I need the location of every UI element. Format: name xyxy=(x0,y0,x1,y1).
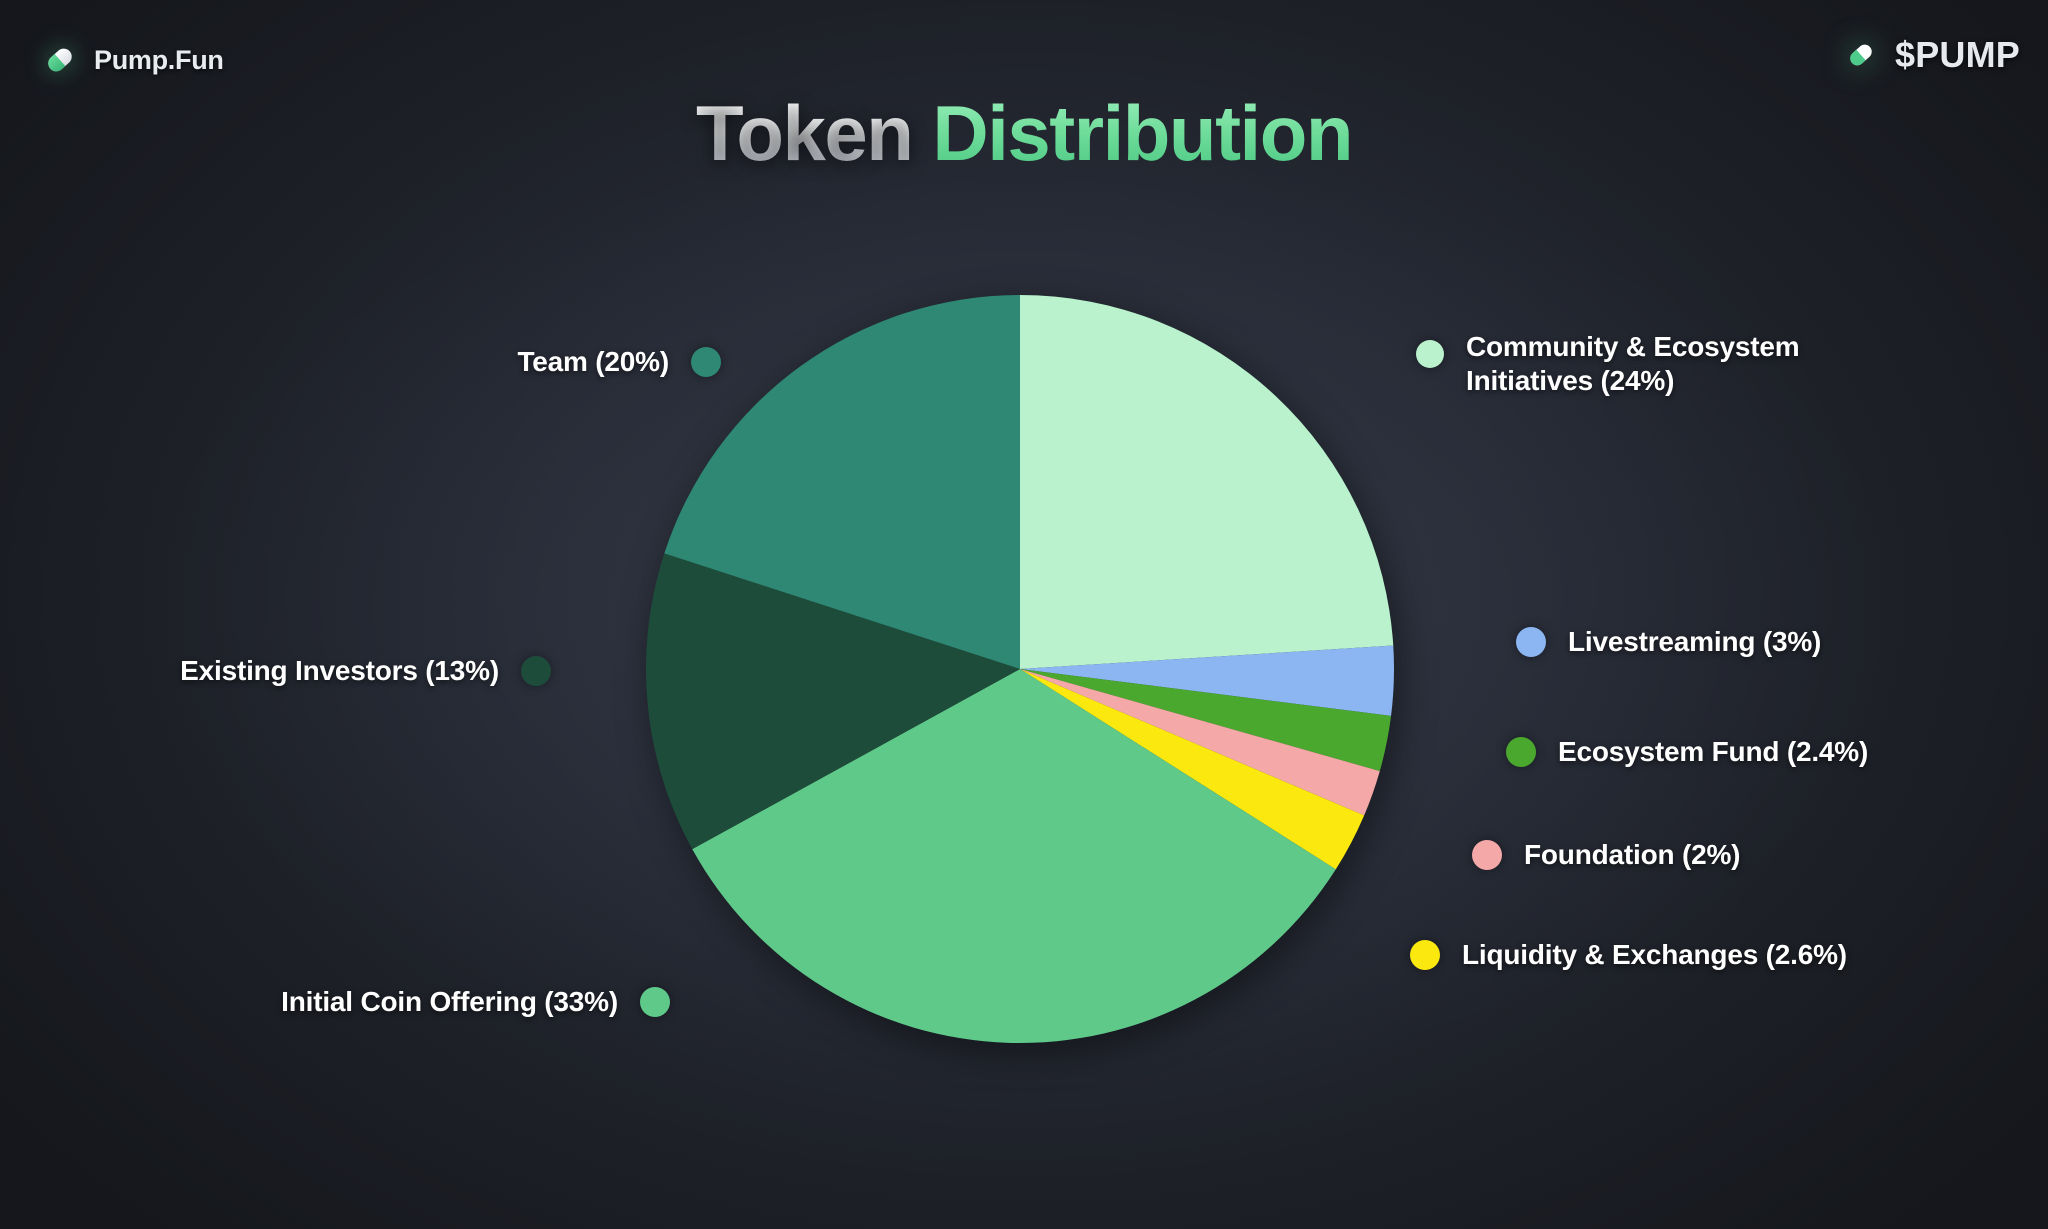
pill-capsule-icon xyxy=(1843,37,1879,73)
pie-chart xyxy=(646,295,1394,1043)
legend-item-existing-investors[interactable]: Existing Investors (13%) xyxy=(180,654,551,688)
brand-name: Pump.Fun xyxy=(94,45,224,76)
legend-label: Community & Ecosystem Initiatives (24%) xyxy=(1466,330,1799,398)
legend-swatch-icon xyxy=(691,347,721,377)
legend-item-community-ecosystem-initiatives[interactable]: Community & Ecosystem Initiatives (24%) xyxy=(1416,330,1976,398)
legend-label: Ecosystem Fund (2.4%) xyxy=(1558,735,1868,769)
legend-item-ecosystem-fund[interactable]: Ecosystem Fund (2.4%) xyxy=(1506,735,1868,769)
legend-item-liquidity-exchanges[interactable]: Liquidity & Exchanges (2.6%) xyxy=(1410,938,1847,972)
legend-label: Livestreaming (3%) xyxy=(1568,625,1821,659)
pie-chart-svg xyxy=(646,295,1394,1043)
legend-label: Existing Investors (13%) xyxy=(180,654,499,688)
legend-item-foundation[interactable]: Foundation (2%) xyxy=(1472,838,1740,872)
legend-item-livestreaming[interactable]: Livestreaming (3%) xyxy=(1516,625,1821,659)
page-title: TokenDistribution xyxy=(0,88,2048,179)
pill-capsule-icon xyxy=(38,38,82,82)
ticker-label: $PUMP xyxy=(1895,34,2020,76)
brand-logo[interactable]: Pump.Fun xyxy=(38,38,224,82)
legend-label: Foundation (2%) xyxy=(1524,838,1740,872)
ticker-badge[interactable]: $PUMP xyxy=(1843,34,2020,76)
legend-swatch-icon xyxy=(1516,627,1546,657)
legend-item-initial-coin-offering[interactable]: Initial Coin Offering (33%) xyxy=(281,985,670,1019)
legend-swatch-icon xyxy=(1416,340,1444,368)
legend-swatch-icon xyxy=(640,987,670,1017)
page-title-main: Token xyxy=(696,89,912,177)
legend-label: Initial Coin Offering (33%) xyxy=(281,985,618,1019)
legend-swatch-icon xyxy=(1472,840,1502,870)
legend-label: Team (20%) xyxy=(517,345,669,379)
legend-item-team[interactable]: Team (20%) xyxy=(517,345,721,379)
slide-canvas: Pump.Fun $PUMP TokenDistribution Communi… xyxy=(0,0,2048,1229)
legend-swatch-icon xyxy=(1506,737,1536,767)
legend-swatch-icon xyxy=(1410,940,1440,970)
pie-slice xyxy=(1020,295,1393,669)
legend-swatch-icon xyxy=(521,656,551,686)
page-title-accent: Distribution xyxy=(932,89,1352,177)
legend-label: Liquidity & Exchanges (2.6%) xyxy=(1462,938,1847,972)
